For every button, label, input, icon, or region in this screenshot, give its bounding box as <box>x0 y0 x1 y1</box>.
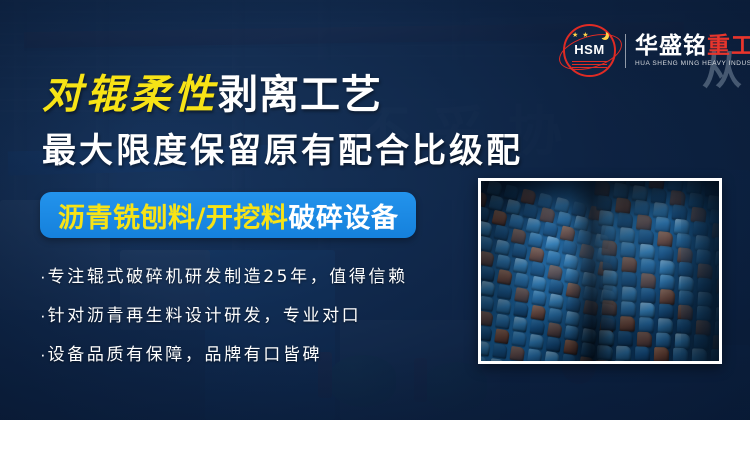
logo-divider <box>625 34 626 68</box>
headline-rest: 剥离工艺 <box>218 72 382 118</box>
list-item: · 针对沥青再生料设计研发，专业对口 <box>40 301 408 326</box>
logo-company-name-en: HUA SHENG MING HEAVY INDUSTRY <box>635 60 750 67</box>
product-photo-inner <box>481 181 719 361</box>
product-photo[interactable] <box>478 178 722 364</box>
headline-line-1: 对辊柔性剥离工艺 <box>42 74 523 117</box>
bullet-dot-icon: · <box>40 306 46 326</box>
brand-logo[interactable]: ★ ★ HSM 华盛铭重工 HUA SHENG MING HEAVY INDUS… <box>563 24 750 77</box>
logo-name-white: 华盛铭 <box>635 33 707 59</box>
list-item: · 设备品质有保障，品牌有口皆碑 <box>40 340 408 365</box>
emblem-moon-icon <box>598 30 606 38</box>
headline-highlight: 对辊柔性 <box>42 72 218 118</box>
emblem-initials: HSM <box>563 42 616 57</box>
list-item-text: 专注辊式破碎机研发制造25年，值得信赖 <box>48 262 408 287</box>
bullet-dot-icon: · <box>40 345 46 365</box>
logo-text-block: 华盛铭重工 HUA SHENG MING HEAVY INDUSTRY <box>635 34 750 67</box>
pill-text-highlight: 沥青铣刨料/开挖料 <box>58 203 288 234</box>
product-category-pill[interactable]: 沥青铣刨料/开挖料破碎设备 <box>40 192 416 238</box>
headline-line-2: 最大限度保留原有配合比级配 <box>42 123 523 172</box>
list-item: · 专注辊式破碎机研发制造25年，值得信赖 <box>40 262 408 287</box>
logo-name-red: 重工 <box>707 33 750 59</box>
selling-points-list: · 专注辊式破碎机研发制造25年，值得信赖 · 针对沥青再生料设计研发，专业对口… <box>40 262 408 379</box>
promo-banner: 不 妥 协 从 ★ ★ HSM <box>0 0 750 420</box>
emblem-wave-lines <box>572 61 607 68</box>
logo-company-name: 华盛铭重工 <box>635 34 750 58</box>
pill-text: 沥青铣刨料/开挖料破碎设备 <box>58 196 398 235</box>
bullet-dot-icon: · <box>40 267 46 287</box>
headline-block: 对辊柔性剥离工艺 最大限度保留原有配合比级配 <box>42 74 523 172</box>
emblem-stars-icon: ★ ★ <box>572 31 590 39</box>
list-item-text: 设备品质有保障，品牌有口皆碑 <box>48 340 322 365</box>
photo-lighting-overlay <box>481 181 719 361</box>
pill-text-rest: 破碎设备 <box>288 203 398 234</box>
list-item-text: 针对沥青再生料设计研发，专业对口 <box>48 301 362 326</box>
hsm-emblem-icon: ★ ★ HSM <box>563 24 616 77</box>
